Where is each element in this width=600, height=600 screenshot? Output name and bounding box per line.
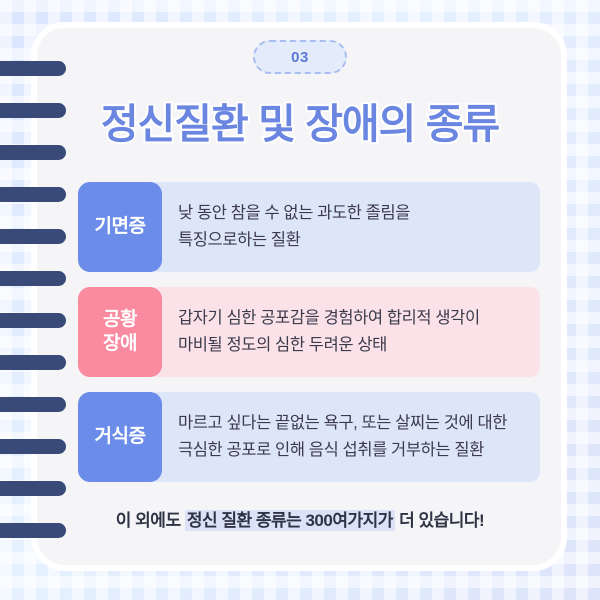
disorder-description-line: 마비될 정도의 심한 두려운 상태	[178, 332, 524, 359]
disorder-description-line: 갑자기 심한 공포감을 경험하여 합리적 생각이	[178, 305, 524, 332]
disorder-label-line: 기면증	[95, 215, 146, 239]
disorder-row: 공황장애 갑자기 심한 공포감을 경험하여 합리적 생각이마비될 정도의 심한 …	[78, 287, 540, 377]
disorder-label: 거식증	[78, 392, 162, 482]
disorder-row: 기면증낮 동안 참을 수 없는 과도한 졸림을특징으로하는 질환	[78, 182, 540, 272]
page-title: 정신질환 및 장애의 종류	[0, 90, 600, 150]
disorder-label-line: 거식증	[95, 425, 146, 449]
disorder-list: 기면증낮 동안 참을 수 없는 과도한 졸림을특징으로하는 질환공황장애 갑자기…	[78, 182, 540, 497]
disorder-description: 마르고 싶다는 끝없는 욕구, 또는 살찌는 것에 대한극심한 공포로 인해 음…	[148, 392, 540, 482]
disorder-description-line: 특징으로하는 질환	[178, 227, 524, 254]
disorder-description-line: 낮 동안 참을 수 없는 과도한 졸림을	[178, 200, 524, 227]
footer-prefix: 이 외에도	[116, 511, 185, 530]
disorder-label-line: 공황	[103, 308, 137, 332]
footer-suffix: 더 있습니다!	[395, 511, 484, 530]
disorder-label-line: 장애	[103, 332, 137, 356]
disorder-label: 기면증	[78, 182, 162, 272]
disorder-description: 갑자기 심한 공포감을 경험하여 합리적 생각이마비될 정도의 심한 두려운 상…	[148, 287, 540, 377]
disorder-description-line: 마르고 싶다는 끝없는 욕구, 또는 살찌는 것에 대한	[178, 410, 524, 437]
footer-note: 이 외에도 정신 질환 종류는 300여가지가 더 있습니다!	[0, 506, 600, 531]
disorder-label: 공황장애	[78, 287, 162, 377]
footer-highlight: 정신 질환 종류는 300여가지가	[185, 510, 395, 531]
section-number-badge: 03	[253, 40, 347, 74]
disorder-description: 낮 동안 참을 수 없는 과도한 졸림을특징으로하는 질환	[148, 182, 540, 272]
infographic-canvas: 03 정신질환 및 장애의 종류 기면증낮 동안 참을 수 없는 과도한 졸림을…	[0, 0, 600, 600]
disorder-row: 거식증마르고 싶다는 끝없는 욕구, 또는 살찌는 것에 대한극심한 공포로 인…	[78, 392, 540, 482]
disorder-description-line: 극심한 공포로 인해 음식 섭취를 거부하는 질환	[178, 437, 524, 464]
